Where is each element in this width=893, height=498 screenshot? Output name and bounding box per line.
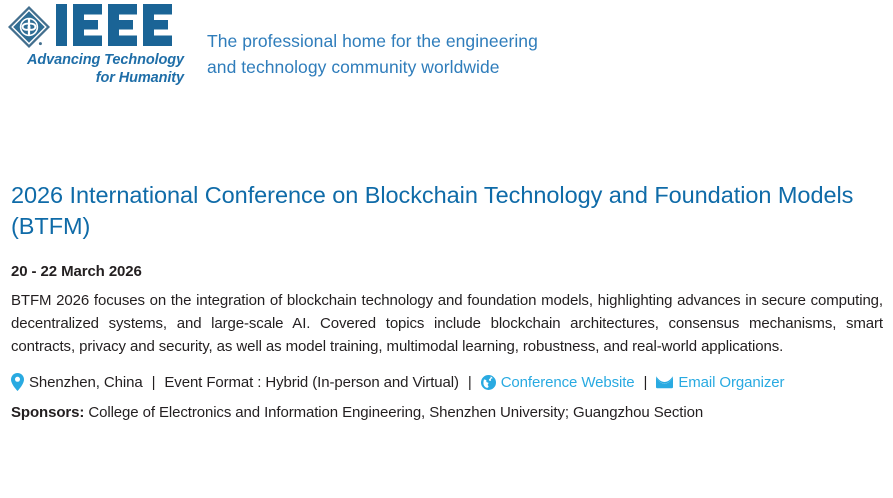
meta-separator-2: |: [468, 374, 472, 391]
ieee-tagline: Advancing Technology for Humanity: [6, 52, 184, 87]
email-organizer-label: Email Organizer: [678, 374, 784, 391]
meta-separator-3: |: [644, 374, 648, 391]
sponsors-value: College of Electronics and Information E…: [88, 404, 703, 421]
conference-location-label: Shenzhen, China: [29, 374, 143, 391]
conference-website-label: Conference Website: [501, 374, 635, 391]
conference-event-format-label: Event Format : Hybrid (In-person and Vir…: [164, 374, 459, 391]
meta-separator-1: |: [152, 374, 156, 391]
conference-website-link[interactable]: Conference Website: [481, 374, 635, 391]
conference-section: 2026 International Conference on Blockch…: [0, 100, 893, 421]
page-title: 2026 International Conference on Blockch…: [11, 180, 881, 241]
ieee-slogan: The professional home for the engineerin…: [207, 29, 538, 80]
conference-location: Shenzhen, China: [11, 373, 143, 391]
conference-event-format: Event Format : Hybrid (In-person and Vir…: [164, 374, 459, 391]
conference-meta-row: Shenzhen, China | Event Format : Hybrid …: [11, 373, 883, 391]
conference-description: BTFM 2026 focuses on the integration of …: [11, 290, 883, 358]
sponsors-label: Sponsors:: [11, 404, 84, 421]
email-organizer-link[interactable]: Email Organizer: [656, 374, 784, 391]
ieee-slogan-line-2: and technology community worldwide: [207, 55, 538, 81]
ieee-slogan-line-1: The professional home for the engineerin…: [207, 29, 538, 55]
ieee-tagline-line-2: for Humanity: [6, 70, 184, 88]
globe-icon: [481, 375, 496, 390]
conference-sponsors: Sponsors: College of Electronics and Inf…: [11, 404, 883, 421]
ieee-tagline-line-1: Advancing Technology: [27, 52, 184, 68]
ieee-wordmark-icon: [56, 4, 184, 50]
conference-dates: 20 - 22 March 2026: [11, 263, 883, 280]
envelope-icon: [656, 375, 673, 389]
ieee-masthead: Advancing Technology for Humanity The pr…: [0, 0, 893, 100]
ieee-diamond-logo-icon: [6, 4, 52, 50]
ieee-logo-row: [6, 4, 186, 50]
map-pin-icon: [11, 373, 24, 391]
ieee-brand-block[interactable]: Advancing Technology for Humanity: [6, 4, 186, 87]
